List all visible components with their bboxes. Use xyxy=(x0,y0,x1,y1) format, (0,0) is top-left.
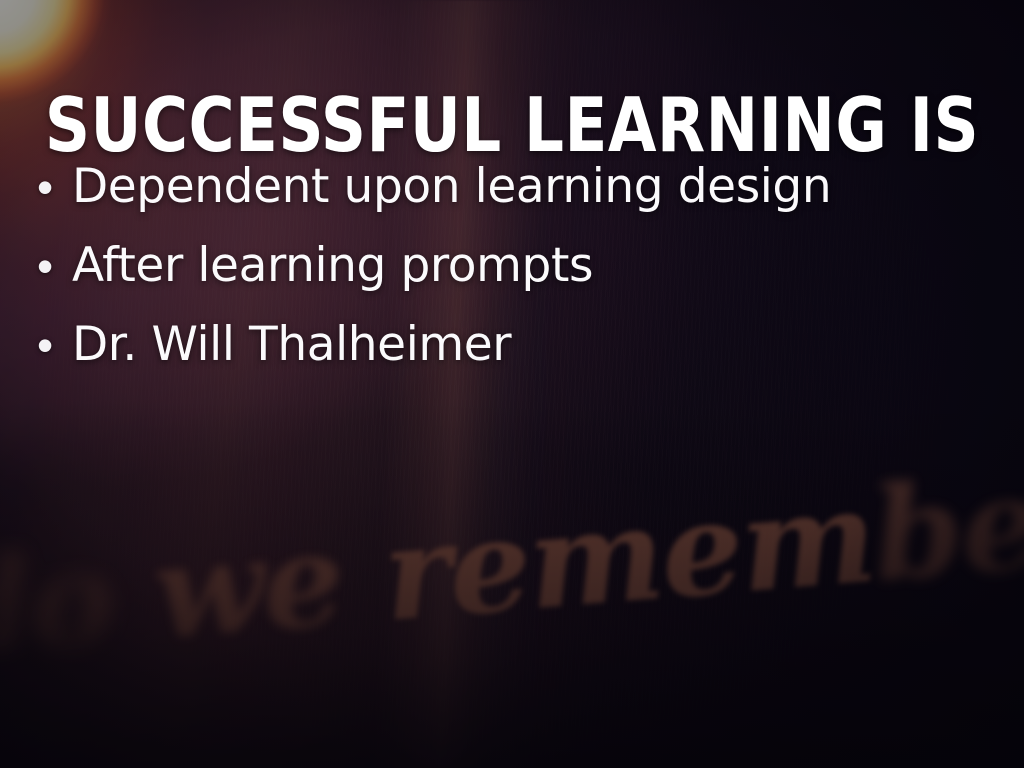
bullet-point-icon: • xyxy=(18,237,72,295)
bullet-item: • Dependent upon learning design xyxy=(18,158,978,216)
slide-title: SUCCESSFUL LEARNING IS xyxy=(36,88,988,163)
bullet-list: • Dependent upon learning design • After… xyxy=(18,158,978,395)
bullet-text: Dependent upon learning design xyxy=(72,158,978,216)
bullet-text: After learning prompts xyxy=(72,237,978,295)
presentation-slide: do we remem ber SUCCESSFUL LEARNING IS •… xyxy=(0,0,1024,768)
bullet-item: • Dr. Will Thalheimer xyxy=(18,316,978,374)
bullet-text: Dr. Will Thalheimer xyxy=(72,316,978,374)
slide-content: SUCCESSFUL LEARNING IS • Dependent upon … xyxy=(0,0,1024,768)
bullet-point-icon: • xyxy=(18,158,72,216)
bullet-item: • After learning prompts xyxy=(18,237,978,295)
bullet-point-icon: • xyxy=(18,316,72,374)
